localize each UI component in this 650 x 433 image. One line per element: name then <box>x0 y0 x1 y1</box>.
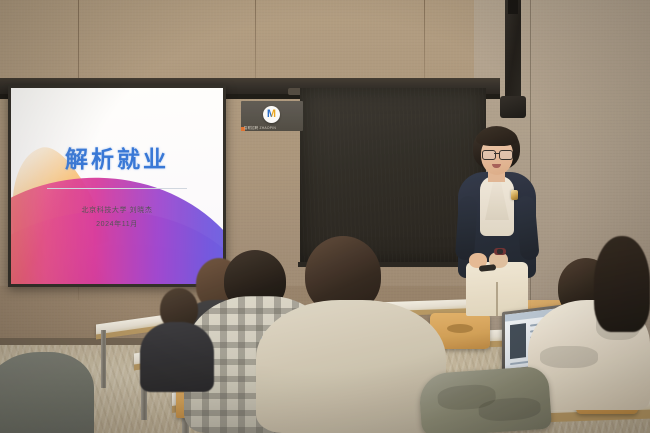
presenter-trouser-seam <box>496 282 498 316</box>
student-hair <box>594 236 650 332</box>
classroom-photo: 解析就业 北京科技大学 刘晓杰 2024年11月 M 智联招聘 ZHAOPIN <box>0 0 650 433</box>
brand-caption: 智联招聘 ZHAOPIN <box>244 125 276 130</box>
slide-surface: 解析就业 北京科技大学 刘晓杰 2024年11月 <box>11 88 223 284</box>
student-torso <box>256 300 446 433</box>
brand-logo-badge: M <box>263 106 280 123</box>
slide-divider <box>47 188 187 189</box>
presenter-wristwatch <box>494 248 506 255</box>
slide-title: 解析就业 <box>11 140 223 174</box>
speaker-mount <box>508 0 518 14</box>
projection-screen: 解析就业 北京科技大学 刘晓杰 2024年11月 <box>8 85 226 287</box>
laptop-content-block <box>510 323 526 359</box>
slide-date: 2024年11月 <box>11 219 223 229</box>
draped-jacket <box>418 366 552 433</box>
chair-handle-slot <box>447 324 473 333</box>
wall-seam <box>255 0 256 90</box>
puffer-seam <box>540 346 598 368</box>
presenter-fringe <box>476 127 518 146</box>
wall-seam <box>424 0 425 84</box>
student-torso <box>140 322 214 392</box>
presenter-glasses-bridge <box>494 153 499 154</box>
ceiling-speaker-column <box>505 0 521 118</box>
desk-leg <box>101 330 106 388</box>
presenter-glasses-right <box>499 150 513 160</box>
slide-subtitle: 北京科技大学 刘晓杰 <box>11 205 223 215</box>
brand-m-icon: M <box>267 109 276 120</box>
presenter-glasses-left <box>482 150 496 160</box>
student-torso <box>0 352 94 433</box>
brand-logo-panel: M 智联招聘 ZHAOPIN <box>241 101 303 131</box>
wall-seam <box>530 0 531 340</box>
presenter-lapel-pin <box>511 190 518 200</box>
